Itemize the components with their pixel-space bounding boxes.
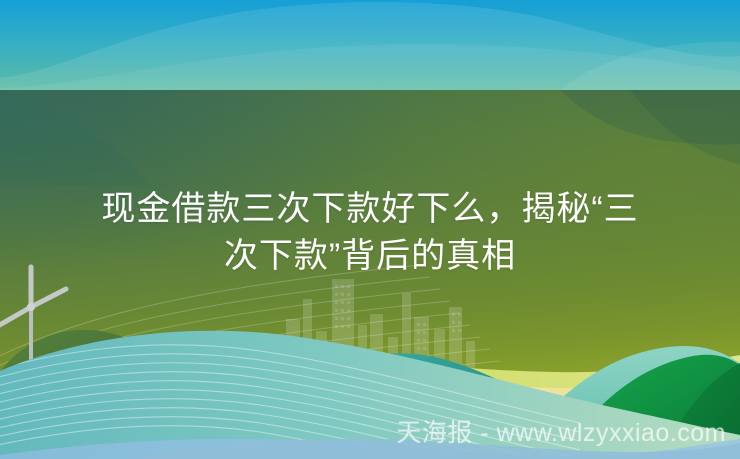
- sky-band: [0, 0, 740, 90]
- sky-wave-overlay: [0, 0, 740, 90]
- title-line-1: 现金借款三次下款好下么，揭秘“三: [40, 186, 700, 233]
- poster-canvas: 现金借款三次下款好下么，揭秘“三 次下款”背后的真相: [0, 0, 740, 459]
- watermark-text: 天海报 - www.wlzyxxiao.com: [396, 413, 726, 449]
